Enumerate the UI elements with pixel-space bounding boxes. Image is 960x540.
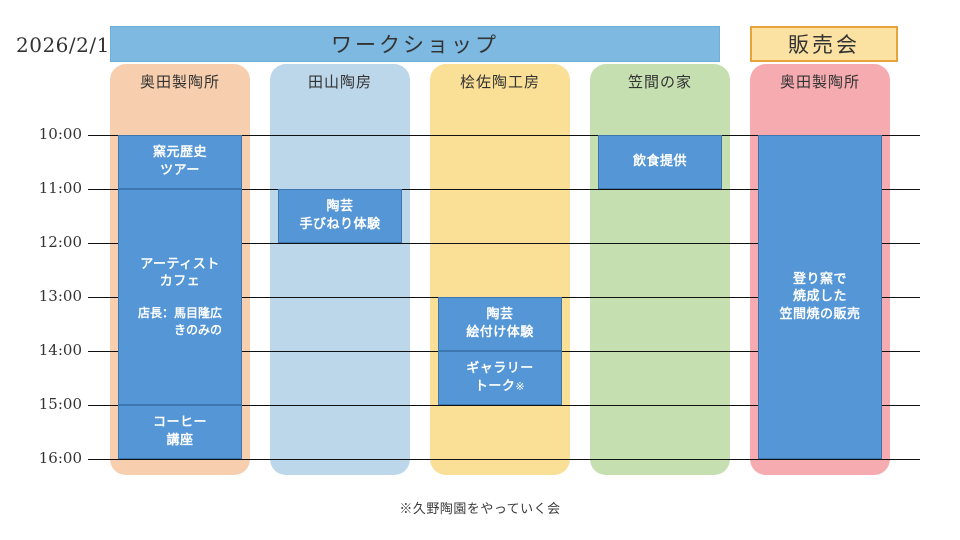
event-title-line: ツアー bbox=[153, 162, 207, 180]
venue-header-label: 笠間の家 bbox=[590, 64, 730, 98]
venue-header-label: 田山陶房 bbox=[270, 64, 410, 98]
category-banner-label: ワークショップ bbox=[331, 29, 499, 59]
event-title-line: アーティスト bbox=[140, 256, 219, 274]
footnote: ※久野陶園をやっていく会 bbox=[0, 498, 960, 517]
event-title-line: 手びねり体験 bbox=[299, 216, 380, 234]
event-subtitle-line: 店長：馬目隆広 bbox=[138, 305, 222, 322]
event-title: アーティストカフェ bbox=[140, 256, 219, 291]
event-title-line: 飲食提供 bbox=[633, 153, 687, 171]
event-block[interactable]: 窯元歴史ツアー bbox=[118, 135, 242, 189]
venue-header-label: 桧佐陶工房 bbox=[430, 64, 570, 98]
event-title-line: 陶芸 bbox=[466, 306, 534, 324]
event-title-line: 窯元歴史 bbox=[153, 144, 207, 162]
schedule-canvas: 2026/2/1 ワークショップ販売会 奥田製陶所田山陶房桧佐陶工房笠間の家奥田… bbox=[0, 0, 960, 540]
event-title-line: 陶芸 bbox=[299, 198, 380, 216]
event-block[interactable]: 陶芸絵付け体験 bbox=[438, 297, 562, 351]
event-title: 登り窯で焼成した笠間焼の販売 bbox=[779, 271, 860, 324]
event-subtitle: 店長：馬目隆広きのみの bbox=[138, 305, 222, 339]
time-tick-label: 13:00 bbox=[22, 287, 82, 305]
event-block[interactable]: 陶芸手びねり体験 bbox=[278, 189, 402, 243]
venue-header-label: 奥田製陶所 bbox=[110, 64, 250, 98]
time-tick-label: 14:00 bbox=[22, 341, 82, 359]
event-title-line: 絵付け体験 bbox=[466, 324, 534, 342]
category-banner-label: 販売会 bbox=[788, 29, 860, 59]
event-block[interactable]: コーヒー講座 bbox=[118, 405, 242, 459]
time-tick-label: 11:00 bbox=[22, 179, 82, 197]
event-title-line: 焼成した bbox=[779, 288, 860, 306]
event-title: 陶芸手びねり体験 bbox=[299, 198, 380, 233]
event-title-line: カフェ bbox=[140, 273, 219, 291]
category-banner-1: ワークショップ bbox=[110, 26, 720, 62]
event-title-line: コーヒー bbox=[153, 414, 207, 432]
date-label: 2026/2/1 bbox=[16, 33, 112, 57]
venue-track-2: 田山陶房 bbox=[270, 64, 410, 475]
venue-header-label: 奥田製陶所 bbox=[750, 64, 890, 98]
event-title-line: 講座 bbox=[153, 432, 207, 450]
event-subtitle-line: きのみの bbox=[138, 322, 222, 339]
event-title: ギャラリートーク※ bbox=[466, 360, 534, 395]
venue-track-3: 桧佐陶工房 bbox=[430, 64, 570, 475]
event-block[interactable]: 飲食提供 bbox=[598, 135, 722, 189]
time-tick-label: 16:00 bbox=[22, 449, 82, 467]
event-title-line: トーク※ bbox=[466, 378, 534, 396]
event-block[interactable]: 登り窯で焼成した笠間焼の販売 bbox=[758, 135, 882, 459]
event-block[interactable]: ギャラリートーク※ bbox=[438, 351, 562, 405]
time-tick-label: 15:00 bbox=[22, 395, 82, 413]
venue-track-4: 笠間の家 bbox=[590, 64, 730, 475]
time-gridline bbox=[88, 459, 920, 460]
event-block[interactable]: アーティストカフェ店長：馬目隆広きのみの bbox=[118, 189, 242, 405]
event-title: コーヒー講座 bbox=[153, 414, 207, 449]
time-tick-label: 10:00 bbox=[22, 125, 82, 143]
event-title: 飲食提供 bbox=[633, 153, 687, 171]
event-title-line: 登り窯で bbox=[779, 271, 860, 289]
event-footnote-mark: ※ bbox=[515, 380, 525, 393]
event-title-line: ギャラリー bbox=[466, 360, 534, 378]
event-title-line: 笠間焼の販売 bbox=[779, 306, 860, 324]
category-banner-2: 販売会 bbox=[750, 26, 898, 62]
event-title: 陶芸絵付け体験 bbox=[466, 306, 534, 341]
event-title: 窯元歴史ツアー bbox=[153, 144, 207, 179]
time-tick-label: 12:00 bbox=[22, 233, 82, 251]
